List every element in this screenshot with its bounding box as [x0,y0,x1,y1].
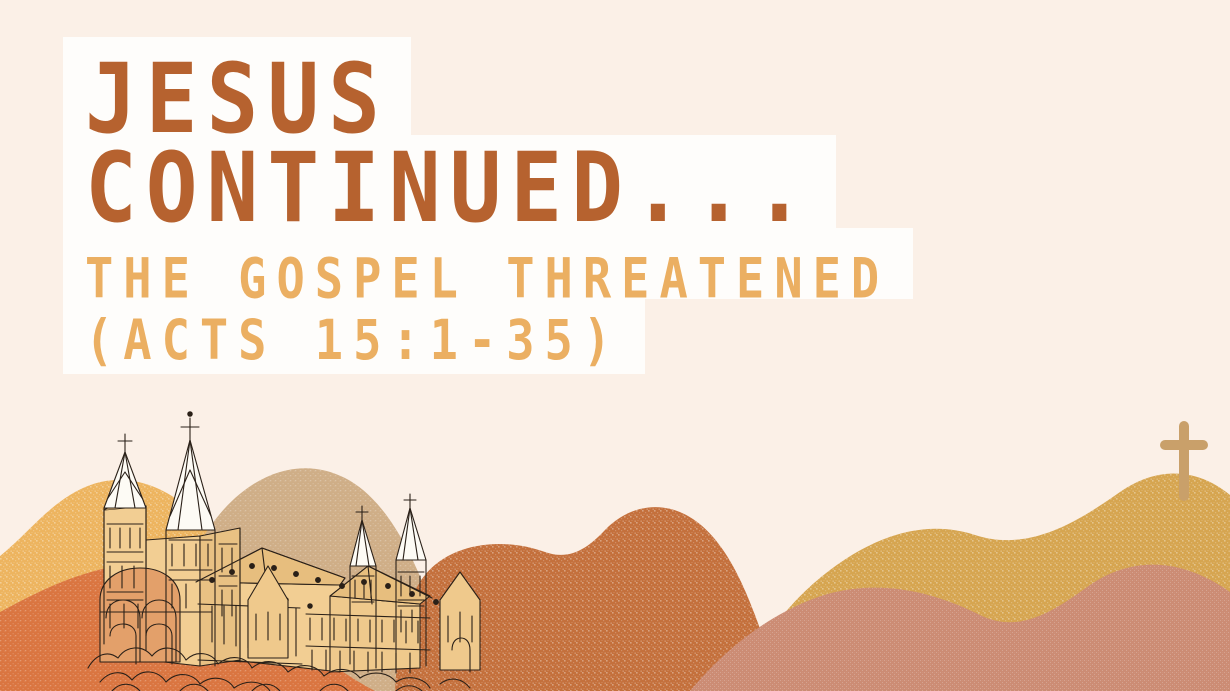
page-title-line-1: JESUS [63,37,411,147]
title-row-1: JESUS [63,37,411,135]
title-row-2: CONTINUED... [63,135,836,227]
hill-back-left-tan [150,468,458,691]
subtitle-row-1: THE GOSPEL THREATENED [63,228,913,299]
subtitle-row-2: (ACTS 15:1-35) [63,299,645,374]
sermon-title-slide: JESUS CONTINUED... THE GOSPEL THREATENED… [0,0,1230,691]
cathedral-line-art-icon [88,412,480,691]
hill-front-left-orange [0,564,375,691]
latin-cross-icon [1152,419,1216,503]
page-title-line-2: CONTINUED... [63,135,836,238]
hill-mid-terracotta [395,507,778,691]
hill-back-right-gold [735,473,1230,691]
subtitle-scripture-reference: (ACTS 15:1-35) [63,299,645,388]
hill-back-left-amber [0,480,300,691]
title-block: JESUS CONTINUED... THE GOSPEL THREATENED… [63,37,943,374]
hill-front-right-rose [690,565,1230,691]
